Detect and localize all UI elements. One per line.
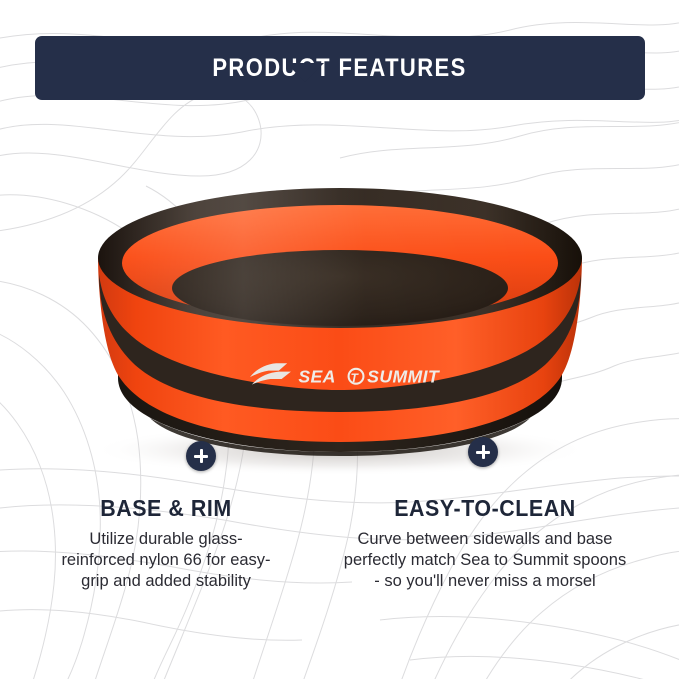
bowl-rim-sheen [98, 188, 582, 328]
feature-body-line: grip and added stability [24, 571, 308, 592]
plus-icon-vertical [200, 449, 203, 463]
feature-heading: EASY-TO-CLEAN [332, 495, 639, 522]
banner: PRODUCT FEATURES [35, 36, 645, 100]
feature-heading: BASE & RIM [34, 495, 298, 522]
feature-body-line: - so you'll never miss a morsel [320, 571, 650, 592]
feature-body-line: Curve between sidewalls and base [320, 529, 650, 550]
banner-body: PRODUCT FEATURES [35, 36, 645, 100]
feature-body-line: perfectly match Sea to Summit spoons [320, 550, 650, 571]
feature-base-rim: BASE & RIM Utilize durable glass- reinfo… [24, 495, 308, 592]
plus-icon-vertical [482, 445, 485, 459]
logo-wordmark-2: SUMMIT [367, 367, 441, 387]
banner-notch-triangle [286, 63, 324, 82]
page-title: PRODUCT FEATURES [213, 54, 467, 83]
feature-easy-to-clean: EASY-TO-CLEAN Curve between sidewalls an… [320, 495, 650, 592]
plus-badge-easy-to-clean[interactable] [468, 437, 498, 467]
product-image-collapsible-bowl: SEA T SUMMIT [0, 150, 679, 480]
feature-body-line: Utilize durable glass- [24, 529, 308, 550]
plus-badge-base-rim[interactable] [186, 441, 216, 471]
feature-list: BASE & RIM Utilize durable glass- reinfo… [0, 495, 679, 592]
logo-wordmark: SEA [298, 367, 335, 387]
product-features-infographic: PRODUCT FEATURES [0, 0, 679, 679]
feature-body-line: reinforced nylon 66 for easy- [24, 550, 308, 571]
feature-body: Utilize durable glass- reinforced nylon … [24, 529, 308, 592]
feature-body: Curve between sidewalls and base perfect… [320, 529, 650, 592]
